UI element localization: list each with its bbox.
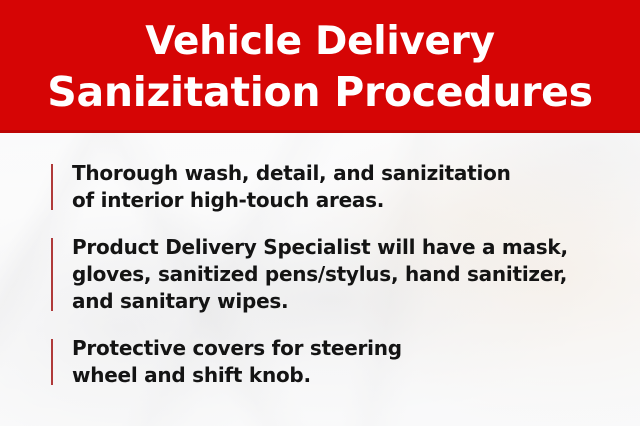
bullet-line: gloves, sanitized pens/stylus, hand sani… [72, 262, 567, 286]
bullet-line: of interior high-touch areas. [72, 188, 384, 212]
bullet-text: Protective covers for steering wheel and… [72, 335, 611, 389]
bullet-text: Product Delivery Specialist will have a … [72, 234, 611, 315]
bullet-line: and sanitary wipes. [72, 289, 288, 313]
list-item: Thorough wash, detail, and sanizitation … [51, 160, 611, 214]
bullet-marker-icon [51, 164, 53, 210]
bullet-line: wheel and shift knob. [72, 363, 311, 387]
procedures-list: Thorough wash, detail, and sanizitation … [51, 160, 611, 389]
bullet-line: Thorough wash, detail, and sanizitation [72, 161, 511, 185]
bullet-marker-icon [51, 238, 53, 311]
bullet-line: Product Delivery Specialist will have a … [72, 235, 568, 259]
bullet-marker-icon [51, 339, 53, 385]
page-title-line-1: Vehicle Delivery [145, 16, 494, 67]
list-item: Protective covers for steering wheel and… [51, 335, 611, 389]
bullet-line: Protective covers for steering [72, 336, 402, 360]
bullet-text: Thorough wash, detail, and sanizitation … [72, 160, 611, 214]
list-item: Product Delivery Specialist will have a … [51, 234, 611, 315]
page-title-line-2: Sanizitation Procedures [47, 67, 593, 118]
header-banner: Vehicle Delivery Sanizitation Procedures [0, 0, 640, 133]
sanitization-procedures-infographic: Vehicle Delivery Sanizitation Procedures… [0, 0, 640, 426]
